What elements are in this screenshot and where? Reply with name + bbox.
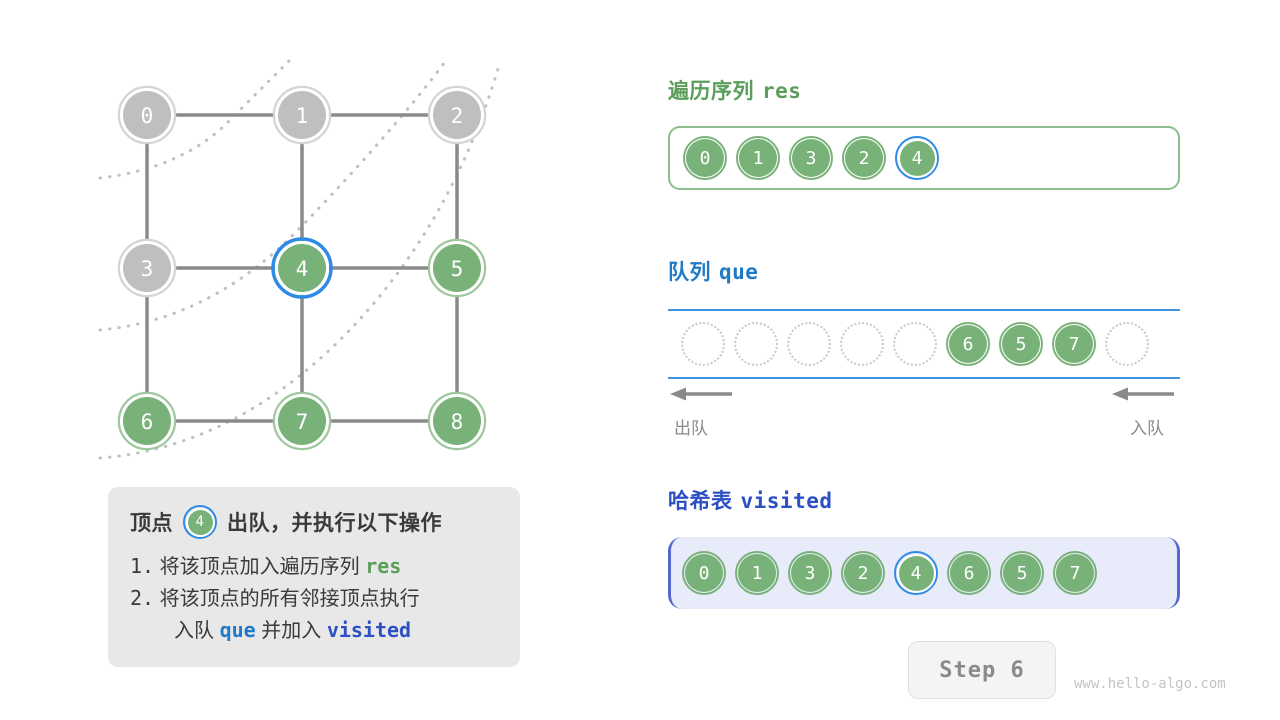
token-value (1108, 325, 1146, 363)
node-body (433, 91, 481, 139)
token-value: 0 (686, 139, 724, 177)
queue-empty-slot (787, 322, 831, 366)
visited-item: 3 (788, 551, 832, 595)
visited-container: 01324657 (668, 537, 1180, 609)
graph-node-2[interactable]: 2 (429, 87, 485, 143)
queue-rail-top (668, 309, 1180, 311)
dequeue-label: 出队 (674, 414, 708, 439)
caption-step-2: 2. 将该顶点的所有邻接顶点执行 (130, 583, 498, 615)
visited-title-cn: 哈希表 (668, 490, 733, 513)
visited-item: 7 (1053, 551, 1097, 595)
token-value: 3 (791, 554, 829, 592)
queue-empty-slot (840, 322, 884, 366)
caption-suffix: 出队，并执行以下操作 (227, 507, 442, 537)
token-value (737, 325, 775, 363)
res-title-cn: 遍历序列 (668, 80, 754, 103)
queue-rail-bottom (668, 377, 1180, 379)
queue-item: 6 (946, 322, 990, 366)
visited-title-code: visited (733, 489, 833, 513)
node-body (278, 244, 326, 292)
queue-empty-slot (681, 322, 725, 366)
caption-step-1: 1. 将该顶点加入遍历序列 res (130, 551, 498, 583)
dequeue-arrow-icon (670, 386, 732, 402)
chip-value: 4 (188, 510, 213, 535)
token-value: 5 (1002, 325, 1040, 363)
step-badge: Step 6 (908, 641, 1056, 699)
visited-item: 4 (894, 551, 938, 595)
caption-step-2-text: 将该顶点的所有邻接顶点执行 (160, 588, 420, 610)
res-title-code: res (754, 79, 801, 103)
caption-vertex-chip: 4 (183, 505, 217, 539)
queue-item: 5 (999, 322, 1043, 366)
caption-step-2-code-visited: visited (327, 618, 411, 642)
visited-section-title: 哈希表visited (668, 485, 833, 515)
caption-step-1-text: 将该顶点加入遍历序列 (160, 556, 360, 578)
caption-step-1-number: 1. (130, 554, 154, 578)
graph-node-5[interactable]: 5 (429, 240, 485, 296)
caption-box: 顶点 4 出队，并执行以下操作 1. 将该顶点加入遍历序列 res 2. 将该顶… (108, 487, 520, 667)
node-body (123, 397, 171, 445)
token-value: 1 (738, 554, 776, 592)
caption-step-1-code: res (365, 554, 401, 578)
token-value: 2 (844, 554, 882, 592)
graph-panel: 012345678 (0, 0, 620, 480)
node-body (433, 397, 481, 445)
node-body (278, 397, 326, 445)
graph-diagram: 012345678 (0, 0, 620, 480)
graph-node-3[interactable]: 3 (119, 240, 175, 296)
token-value: 4 (900, 141, 935, 176)
token-value: 5 (1003, 554, 1041, 592)
que-title-cn: 队列 (668, 261, 711, 284)
queue-empty-slot (893, 322, 937, 366)
token-value: 4 (899, 556, 934, 591)
token-value (684, 325, 722, 363)
token-value: 6 (950, 554, 988, 592)
caption-step-2-line2-before: 入队 (174, 620, 214, 642)
queue-empty-slot (734, 322, 778, 366)
visited-item: 5 (1000, 551, 1044, 595)
enqueue-label: 入队 (1130, 414, 1164, 439)
graph-node-0[interactable]: 0 (119, 87, 175, 143)
token-value (843, 325, 881, 363)
node-body (123, 244, 171, 292)
queue-slots: 657 (668, 322, 1180, 366)
caption-title: 顶点 4 出队，并执行以下操作 (130, 505, 498, 539)
queue-item: 7 (1052, 322, 1096, 366)
queue-empty-slot (1105, 322, 1149, 366)
visited-item: 6 (947, 551, 991, 595)
visited-item: 1 (735, 551, 779, 595)
caption-step-2-line2: 入队 que 并加入 visited (130, 615, 498, 647)
res-item: 1 (736, 136, 780, 180)
node-body (123, 91, 171, 139)
token-value: 7 (1055, 325, 1093, 363)
graph-node-8[interactable]: 8 (429, 393, 485, 449)
res-item: 3 (789, 136, 833, 180)
graph-node-7[interactable]: 7 (274, 393, 330, 449)
res-container: 01324 (668, 126, 1180, 190)
enqueue-arrow-icon (1112, 386, 1174, 402)
res-item: 4 (895, 136, 939, 180)
graph-nodes: 012345678 (119, 87, 485, 449)
token-value: 6 (949, 325, 987, 363)
caption-step-2-code-que: que (220, 618, 256, 642)
node-body (278, 91, 326, 139)
caption-step-2-number: 2. (130, 586, 154, 610)
graph-node-6[interactable]: 6 (119, 393, 175, 449)
token-value: 1 (739, 139, 777, 177)
token-value (790, 325, 828, 363)
right-panel: 遍历序列res 01324 队列que 657 出队 入队 哈希表visited… (660, 0, 1280, 720)
watermark: www.hello-algo.com (1074, 676, 1226, 692)
que-section-title: 队列que (668, 256, 758, 286)
graph-node-1[interactable]: 1 (274, 87, 330, 143)
caption-prefix: 顶点 (130, 507, 173, 537)
screenshot-root: 012345678 顶点 4 出队，并执行以下操作 1. 将该顶点加入遍历序列 … (0, 0, 1280, 720)
res-section-title: 遍历序列res (668, 75, 801, 105)
res-item: 0 (683, 136, 727, 180)
que-title-code: que (711, 260, 758, 284)
token-value (896, 325, 934, 363)
res-item: 2 (842, 136, 886, 180)
token-value: 0 (685, 554, 723, 592)
graph-node-4[interactable]: 4 (273, 239, 331, 297)
token-value: 2 (845, 139, 883, 177)
caption-step-2-line2-mid: 并加入 (261, 620, 321, 642)
token-value: 3 (792, 139, 830, 177)
node-body (433, 244, 481, 292)
visited-item: 0 (682, 551, 726, 595)
token-value: 7 (1056, 554, 1094, 592)
visited-item: 2 (841, 551, 885, 595)
